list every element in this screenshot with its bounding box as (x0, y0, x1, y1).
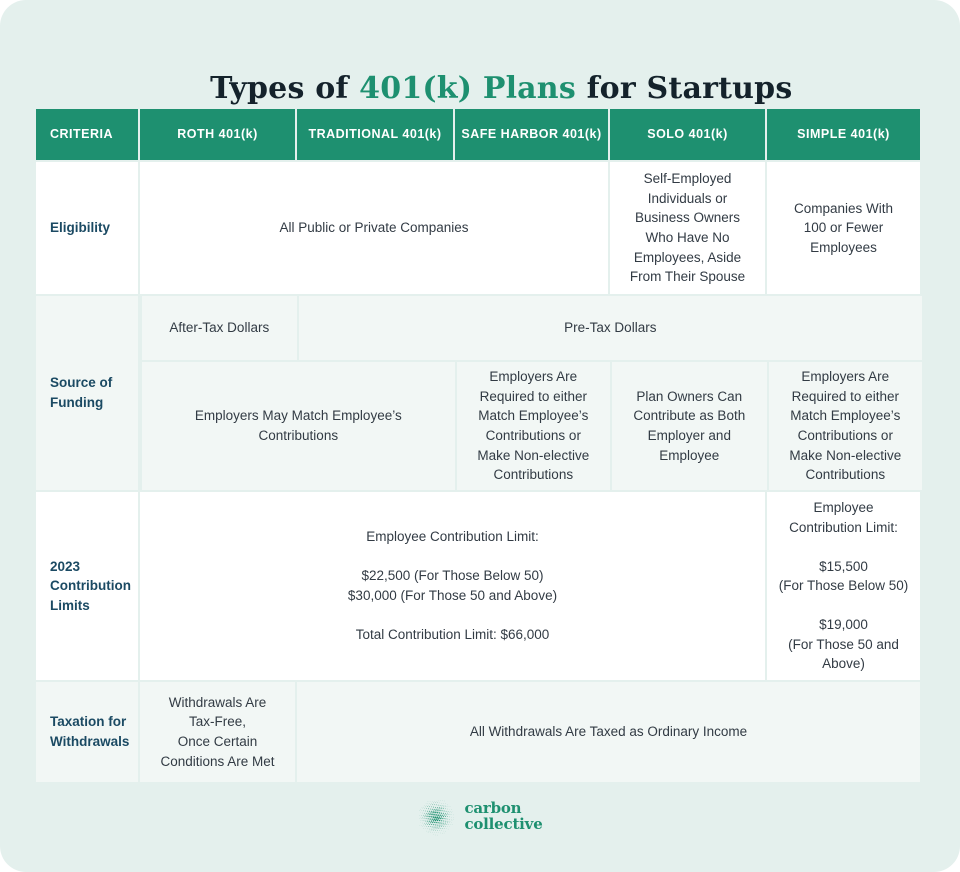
table-row: EligibilityAll Public or Private Compani… (36, 162, 922, 294)
row-criteria-label: Eligibility (36, 162, 138, 294)
page-title-part2: for Startups (576, 71, 793, 106)
column-header-simple: SIMPLE 401(k) (767, 109, 920, 160)
logo-wordmark: carbon collective (464, 801, 542, 833)
table-cell: All Public or Private Companies (140, 162, 608, 294)
column-header-traditional: TRADITIONAL 401(k) (297, 109, 453, 160)
table-cell: Self-Employed Individuals or Business Ow… (610, 162, 765, 294)
row-criteria-label: Taxation for Withdrawals (36, 682, 138, 782)
table-cell: Employers Are Required to either Match E… (457, 362, 610, 490)
table-row: Source of FundingAfter-Tax DollarsPre-Ta… (36, 296, 922, 490)
table-cell: After-Tax Dollars (142, 296, 297, 360)
column-header-criteria: CRITERIA (36, 109, 138, 160)
table-row: 2023 Contribution LimitsEmployee Contrib… (36, 492, 922, 680)
comparison-table: CRITERIAROTH 401(k)TRADITIONAL 401(k)SAF… (36, 109, 922, 782)
table-cell: Employee Contribution Limit: $22,500 (Fo… (140, 492, 765, 680)
table-cell: Employee Contribution Limit: $15,500 (Fo… (767, 492, 920, 680)
page-title-part1: Types of (210, 71, 359, 106)
row-criteria-label: 2023 Contribution Limits (36, 492, 138, 680)
column-header-solo: SOLO 401(k) (610, 109, 765, 160)
table-subrow: Employers May Match Employee’s Contribut… (142, 362, 922, 490)
table-cell: Employers May Match Employee’s Contribut… (142, 362, 455, 490)
row-subrow-group: After-Tax DollarsPre-Tax DollarsEmployer… (142, 296, 922, 490)
table-subrow: After-Tax DollarsPre-Tax Dollars (142, 296, 922, 360)
table-cell: Withdrawals Are Tax-Free, Once Certain C… (140, 682, 295, 782)
table-row: Taxation for WithdrawalsWithdrawals Are … (36, 682, 922, 782)
dotted-circle-logo-icon (417, 798, 455, 836)
row-criteria-label: Source of Funding (36, 296, 138, 490)
table-header-row: CRITERIAROTH 401(k)TRADITIONAL 401(k)SAF… (36, 109, 922, 160)
column-header-safe_harbor: SAFE HARBOR 401(k) (455, 109, 608, 160)
table-cell: Companies With 100 or Fewer Employees (767, 162, 920, 294)
footer-logo: carbon collective (0, 798, 960, 836)
table-cell: All Withdrawals Are Taxed as Ordinary In… (297, 682, 920, 782)
column-header-roth: ROTH 401(k) (140, 109, 295, 160)
table-cell: Pre-Tax Dollars (299, 296, 922, 360)
table-cell: Plan Owners Can Contribute as Both Emplo… (612, 362, 767, 490)
table-cell: Employers Are Required to either Match E… (769, 362, 922, 490)
infographic-page: Types of 401(k) Plans for Startups CRITE… (0, 0, 960, 872)
page-title-accent: 401(k) Plans (359, 71, 576, 106)
